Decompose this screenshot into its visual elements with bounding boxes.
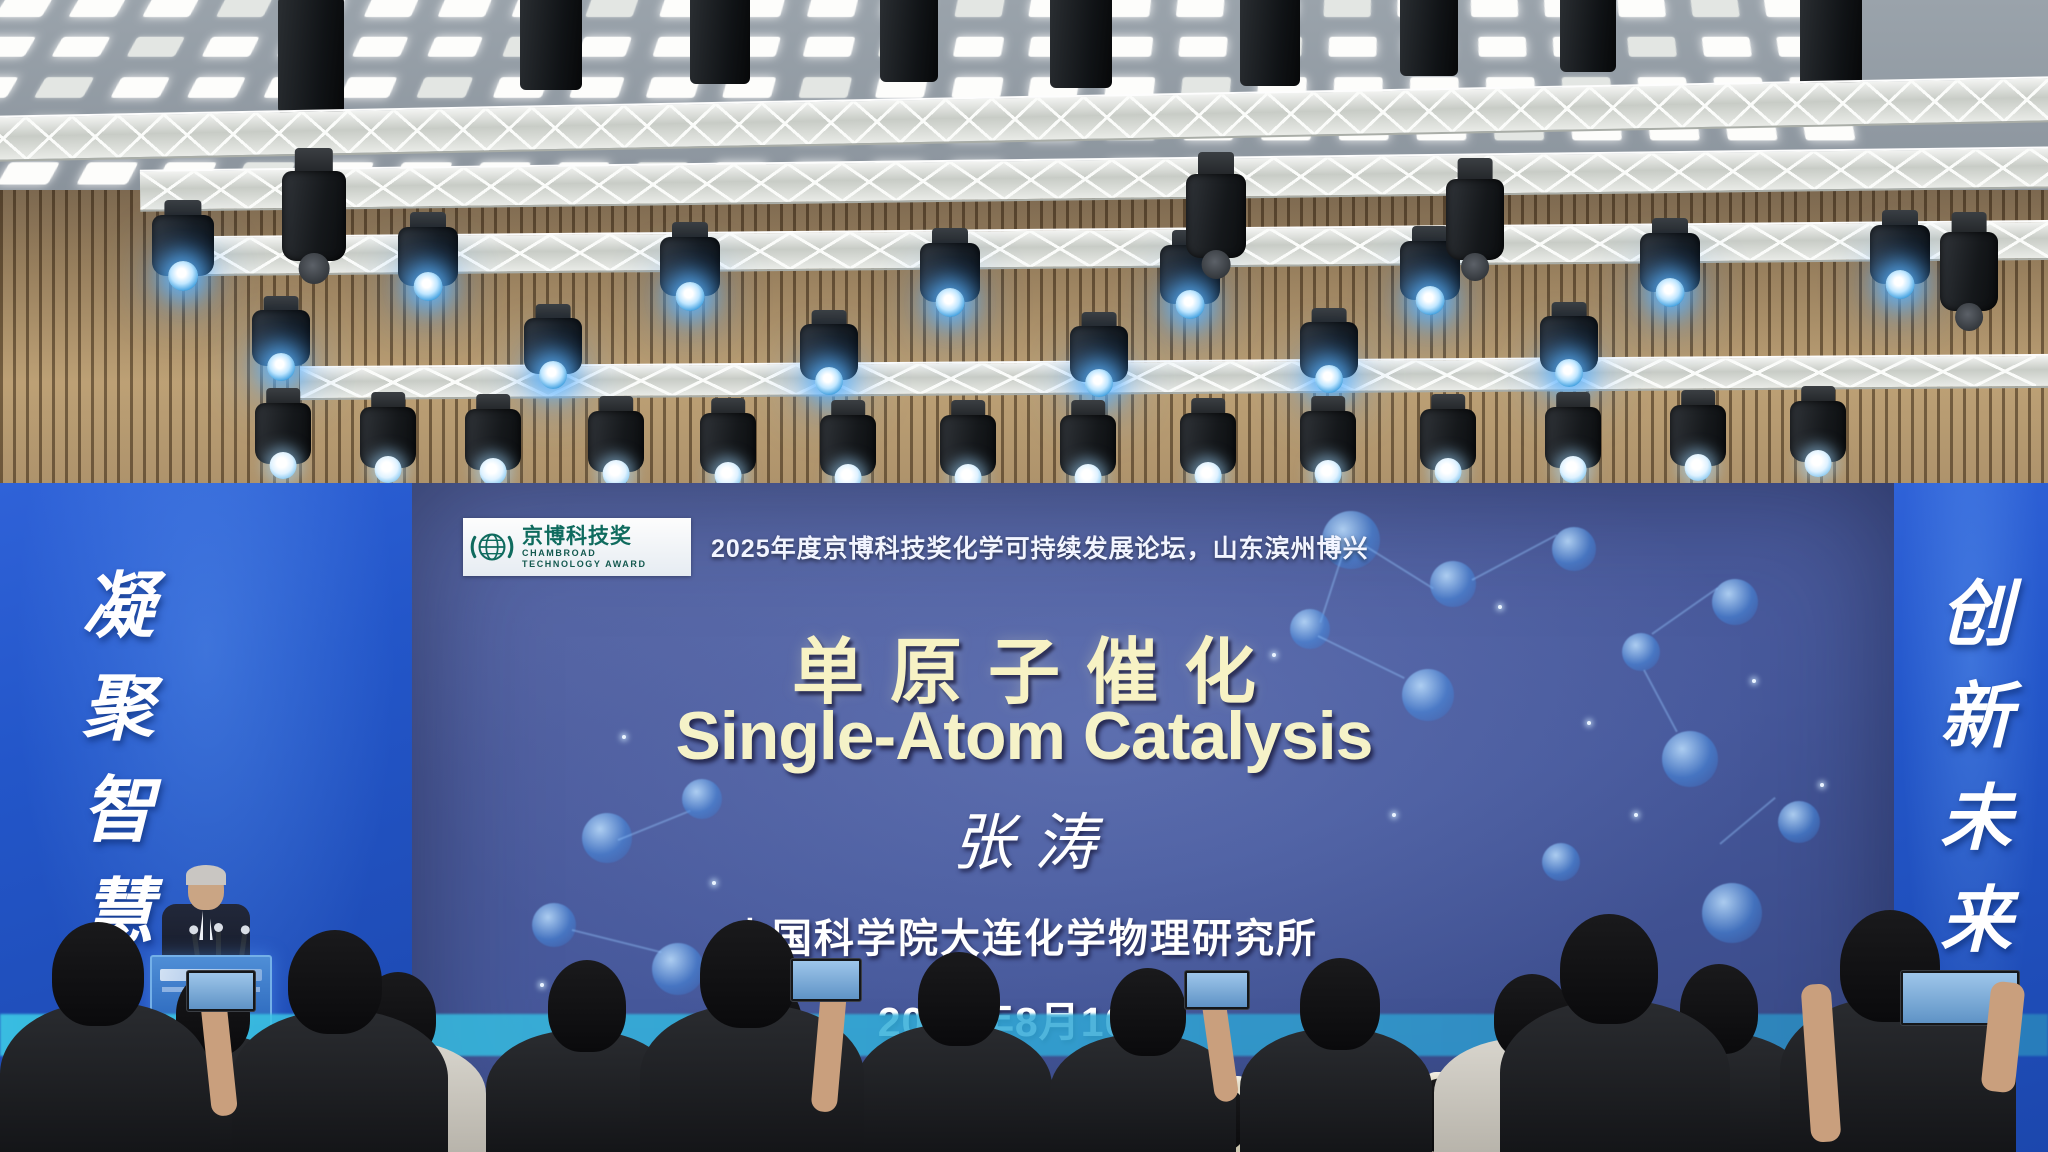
ceiling-light-panel	[807, 0, 859, 17]
moving-head-light-off	[1446, 158, 1504, 274]
screen-header-row: 京博科技奖 CHAMBROAD TECHNOLOGY AWARD 2025年度京…	[463, 518, 1369, 576]
ceiling-light-panel	[0, 162, 60, 184]
moving-head-light	[524, 304, 582, 384]
hanging-fixture	[1560, 0, 1616, 72]
banner-char: 智	[82, 774, 154, 846]
moving-head-light	[1420, 394, 1476, 480]
ceiling-light-panel	[76, 162, 138, 184]
audience	[0, 922, 2048, 1152]
moving-head-light	[700, 398, 756, 484]
moving-head-light-off	[282, 148, 346, 276]
hanging-fixture	[880, 0, 938, 82]
moving-head-light	[1870, 210, 1930, 294]
ceiling-light-panel	[0, 77, 19, 98]
moving-head-light	[1180, 398, 1236, 484]
ceiling-light-panel	[126, 37, 185, 57]
ceiling-light-panel	[577, 37, 632, 57]
hanging-fixture	[1400, 0, 1458, 76]
chambroad-award-logo: 京博科技奖 CHAMBROAD TECHNOLOGY AWARD	[463, 518, 691, 576]
ceiling-light-panel	[1328, 37, 1376, 57]
moving-head-light	[360, 392, 416, 478]
hanging-fixture	[278, 0, 344, 114]
smartphone-camera	[790, 958, 862, 1002]
moving-head-light-off	[1940, 212, 1998, 324]
ceiling-light-panel	[954, 0, 1005, 17]
smartphone-camera	[186, 970, 256, 1012]
moving-head-light	[660, 222, 720, 306]
audience-head	[700, 920, 796, 1028]
moving-head-light	[1300, 396, 1356, 482]
smartphone-camera	[1184, 970, 1250, 1010]
ceiling-light-panel	[1323, 0, 1371, 17]
audience-head	[288, 930, 382, 1034]
ceiling-light-panel	[427, 37, 483, 57]
ceiling-light-panel	[142, 0, 200, 17]
ceiling-light-panel	[202, 37, 260, 57]
banner-char: 新	[1940, 680, 2012, 752]
ceiling-light-panel	[437, 0, 492, 17]
moving-head-light	[588, 396, 644, 482]
ceiling-light-panel	[340, 77, 398, 98]
audience-head	[1300, 958, 1380, 1050]
ceiling-light-panel	[798, 77, 852, 98]
logo-english-line1: CHAMBROAD	[522, 549, 647, 558]
speaker-name: 张涛	[0, 792, 2048, 882]
ceiling-light-panel	[187, 77, 246, 98]
hanging-fixture	[1800, 0, 1862, 88]
speaker-hair	[186, 865, 226, 885]
ceiling-light-panel	[68, 0, 126, 17]
audience-head	[918, 952, 1000, 1046]
moving-head-light	[940, 400, 996, 486]
ceiling-light-panel	[953, 37, 1005, 57]
logo-chinese: 京博科技奖	[522, 526, 647, 547]
ceiling-light-panel	[1176, 0, 1225, 17]
moving-head-light	[820, 400, 876, 486]
ceiling-light-panel	[216, 0, 273, 17]
moving-head-light	[1670, 390, 1726, 476]
banner-char: 凝	[82, 570, 154, 642]
ceiling-light-panel	[364, 0, 420, 17]
moving-head-light-off	[1186, 152, 1246, 272]
ceiling-light-panel	[951, 77, 1004, 98]
audience-head	[52, 922, 144, 1026]
ceiling-light-panel	[1627, 37, 1677, 57]
ceiling-light-panel	[1471, 0, 1519, 17]
audience-head	[1560, 914, 1658, 1024]
ceiling-light-panel	[51, 37, 110, 57]
moving-head-light	[1070, 312, 1128, 392]
audience-head	[548, 960, 626, 1052]
sparkle	[1820, 783, 1824, 787]
molecule-bond	[1472, 534, 1558, 581]
globe-icon	[469, 524, 515, 570]
ceiling-light-panel	[352, 37, 409, 57]
hanging-fixture	[690, 0, 750, 84]
moving-head-light	[800, 310, 858, 390]
moving-head-light	[255, 388, 311, 474]
moving-head-light	[920, 228, 980, 312]
ceiling-light-panel	[0, 0, 53, 17]
hanging-fixture	[1240, 0, 1300, 86]
ceiling-light-panel	[585, 0, 639, 17]
event-subtitle: 2025年度京博科技奖化学可持续发展论坛，山东滨州博兴	[711, 529, 1369, 565]
ceiling-light-panel	[1617, 0, 1666, 17]
ceiling-light-panel	[0, 37, 36, 57]
molecule-node	[1430, 561, 1476, 607]
hanging-fixture	[520, 0, 582, 90]
conference-stage-photo: 京博科技奖 CHAMBROAD TECHNOLOGY AWARD 2025年度京…	[0, 0, 2048, 1152]
hanging-fixture	[1050, 0, 1112, 88]
banner-char: 未	[1940, 782, 2012, 854]
molecule-node	[1552, 527, 1596, 571]
molecule-bond	[1361, 543, 1433, 589]
presentation-title-english: Single-Atom Catalysis	[0, 697, 2048, 775]
ceiling-light-panel	[1178, 37, 1228, 57]
moving-head-light	[1300, 308, 1358, 388]
logo-english-line2: TECHNOLOGY AWARD	[522, 560, 647, 569]
logo-text: 京博科技奖 CHAMBROAD TECHNOLOGY AWARD	[522, 526, 647, 569]
moving-head-light	[398, 212, 458, 296]
audience-head	[1110, 968, 1186, 1056]
moving-head-light	[1540, 302, 1598, 382]
left-banner-calligraphy: 凝 聚 智 慧	[82, 570, 154, 948]
moving-head-light	[1545, 392, 1601, 478]
moving-head-light	[1790, 386, 1846, 472]
moving-head-light	[252, 296, 310, 376]
moving-head-light	[1060, 400, 1116, 486]
right-banner-calligraphy: 创 新 未 来	[1940, 578, 2012, 956]
banner-char: 创	[1940, 578, 2012, 650]
sparkle	[1498, 605, 1502, 609]
moving-head-light	[465, 394, 521, 480]
ceiling-light-panel	[416, 77, 473, 98]
ceiling-light-panel	[1690, 0, 1739, 17]
ceiling-light-panel	[1702, 37, 1752, 57]
ceiling-light-panel	[1478, 37, 1526, 57]
ceiling-light-panel	[803, 37, 856, 57]
ceiling-light-panel	[34, 77, 95, 98]
banner-char: 聚	[82, 672, 154, 744]
moving-head-light	[1640, 218, 1700, 302]
moving-head-light	[152, 200, 214, 286]
ceiling-light-panel	[110, 77, 170, 98]
